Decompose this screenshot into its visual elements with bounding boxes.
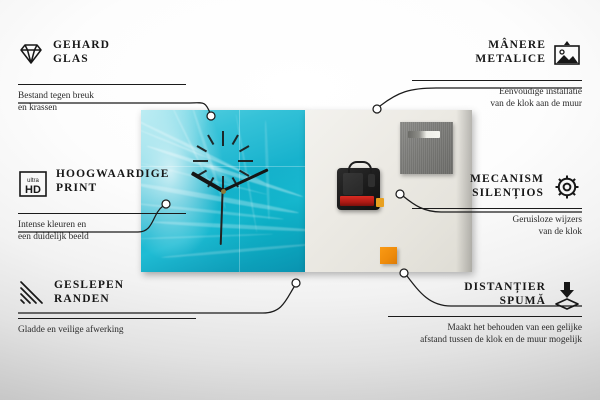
clock-hand-cap — [221, 189, 226, 194]
feature-desc-line1: Eenvoudige installatie — [412, 87, 582, 99]
feature-title-line1: GESLEPEN — [54, 278, 198, 292]
battery — [340, 196, 374, 206]
mechanism-knob — [368, 174, 375, 187]
feature-mecanism-silentios: MECANISM SILENȚIOS Geruisloze wijzers va… — [412, 172, 582, 238]
feature-geslepen-randen: GESLEPEN RANDEN Gladde en veilige afwerk… — [18, 278, 198, 337]
feature-manere-metalice: MÂNERE METALICE Eenvoudige installatie v… — [412, 38, 582, 110]
feature-underline — [18, 84, 186, 85]
feature-title-line2: GLAS — [53, 52, 188, 66]
gear-icon — [552, 172, 582, 202]
feature-title-line2: SILENȚIOS — [412, 186, 544, 200]
feature-desc-line2: een duidelijk beeld — [18, 232, 188, 244]
feature-distantier-spuma: DISTANȚIER SPUMĂ Maakt het behouden van … — [388, 280, 582, 346]
feature-desc-line1: Bestand tegen breuk — [18, 91, 188, 103]
framed-picture-icon — [552, 40, 582, 68]
feature-desc-line1: Intense kleuren en — [18, 220, 188, 232]
feature-underline — [412, 80, 582, 81]
feature-hoogwaardige-print: ultra HD HOOGWAARDIGE PRINT Intense kleu… — [18, 167, 188, 243]
feature-gehard-glas: GEHARD GLAS Bestand tegen breuk en krass… — [18, 38, 188, 114]
clock-mechanism — [337, 168, 380, 210]
mechanism-panel — [343, 173, 363, 195]
feature-underline — [388, 316, 582, 317]
metal-hanger-plate — [400, 122, 453, 174]
feature-desc-line2: afstand tussen de klok en de muur mogeli… — [388, 335, 582, 347]
feature-title-line1: MÂNERE — [412, 38, 546, 52]
battery-terminal — [376, 198, 384, 207]
press-down-arrow-icon — [552, 280, 582, 310]
feature-desc-line2: en krassen — [18, 103, 188, 115]
feature-title-line2: METALICE — [412, 52, 546, 66]
feature-underline — [18, 318, 196, 319]
mechanism-hook — [348, 161, 372, 173]
glass-reflection-line-v — [239, 110, 240, 272]
feature-desc-line1: Geruisloze wijzers — [412, 215, 582, 227]
feature-desc-line1: Gladde en veilige afwerking — [18, 325, 198, 337]
diamond-icon — [18, 42, 44, 66]
infographic-canvas: GEHARD GLAS Bestand tegen breuk en krass… — [0, 0, 600, 400]
beveled-edges-icon — [18, 280, 46, 306]
svg-text:HD: HD — [25, 184, 41, 196]
feature-title-line1: DISTANȚIER — [388, 280, 546, 294]
feature-title-line2: PRINT — [56, 181, 188, 195]
feature-desc-line1: Maakt het behouden van een gelijke — [388, 323, 582, 335]
feature-underline — [18, 213, 186, 214]
feature-title-line1: HOOGWAARDIGE — [56, 167, 188, 181]
feature-title-line2: SPUMĂ — [388, 294, 546, 308]
feature-title-line2: RANDEN — [54, 292, 198, 306]
feature-underline — [412, 208, 582, 209]
hanger-slot — [408, 131, 440, 138]
feature-title-line1: MECANISM — [412, 172, 544, 186]
ultra-hd-icon: ultra HD — [18, 170, 48, 198]
feature-title-line1: GEHARD — [53, 38, 188, 52]
feature-desc-line2: van de klok — [412, 227, 582, 239]
foam-spacer — [380, 247, 397, 264]
feature-desc-line2: van de klok aan de muur — [412, 99, 582, 111]
